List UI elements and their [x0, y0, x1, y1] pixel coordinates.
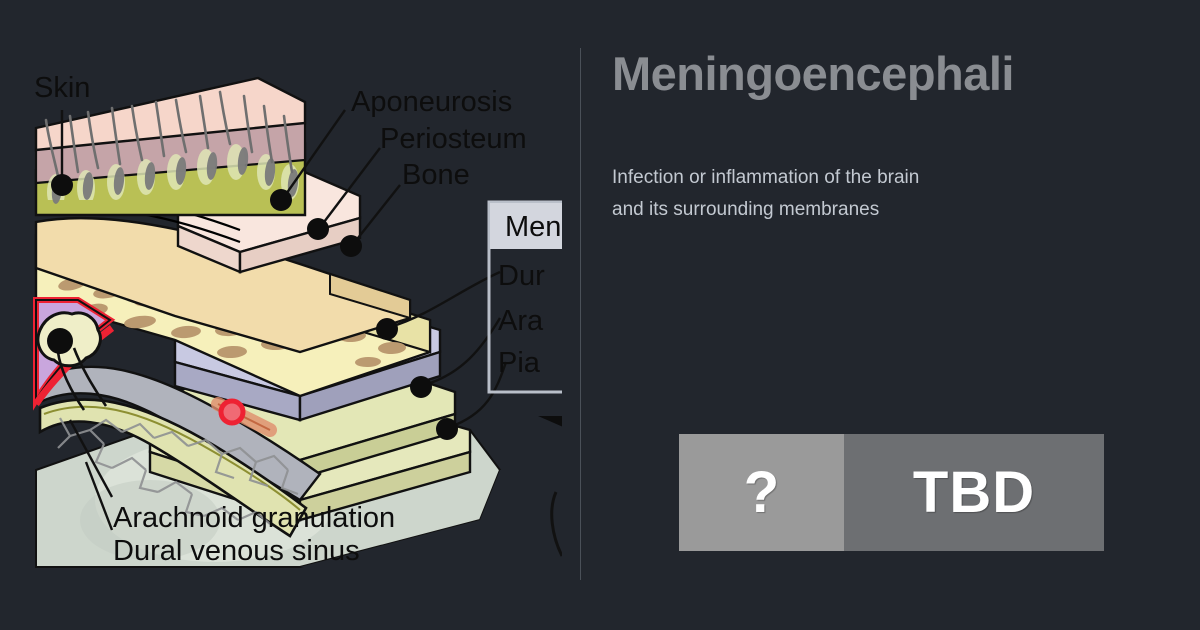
illustration-panel: Men Dur Ara Pia Skin Aponeurosis Periost…: [0, 0, 580, 630]
status-badge-label: TBD: [844, 434, 1104, 551]
label-dural-venous-sinus: Dural venous sinus: [113, 535, 360, 567]
status-badge: ? TBD: [679, 434, 1104, 551]
meninges-callout-box: Men Dur Ara Pia: [489, 202, 580, 392]
meninges-item-arachnoid: Ara: [498, 305, 544, 337]
vessel-marker-icon: [221, 401, 243, 423]
question-mark-icon: ?: [679, 434, 844, 551]
infographic-page: Men Dur Ara Pia Skin Aponeurosis Periost…: [0, 0, 1200, 630]
pointer-arrow-icon: [538, 416, 570, 430]
label-aponeurosis: Aponeurosis: [351, 86, 512, 118]
page-title: Meningoencephali: [612, 48, 1200, 100]
label-arachnoid-granulation: Arachnoid granulation: [113, 502, 395, 534]
info-panel: Meningoencephali Infection or inflammati…: [580, 0, 1200, 630]
scalp-meninges-cross-section-diagram: Men Dur Ara Pia Skin Aponeurosis Periost…: [0, 0, 580, 630]
label-periosteum: Periosteum: [380, 123, 527, 155]
meninges-box-title: Men: [505, 211, 561, 243]
description-text: Infection or inflammation of the brain a…: [612, 162, 952, 226]
meninges-item-dura: Dur: [498, 260, 545, 292]
label-skin: Skin: [34, 72, 90, 104]
meninges-item-pia: Pia: [498, 347, 541, 379]
granulation-marker-dot: [47, 328, 73, 354]
label-bone: Bone: [402, 159, 470, 191]
